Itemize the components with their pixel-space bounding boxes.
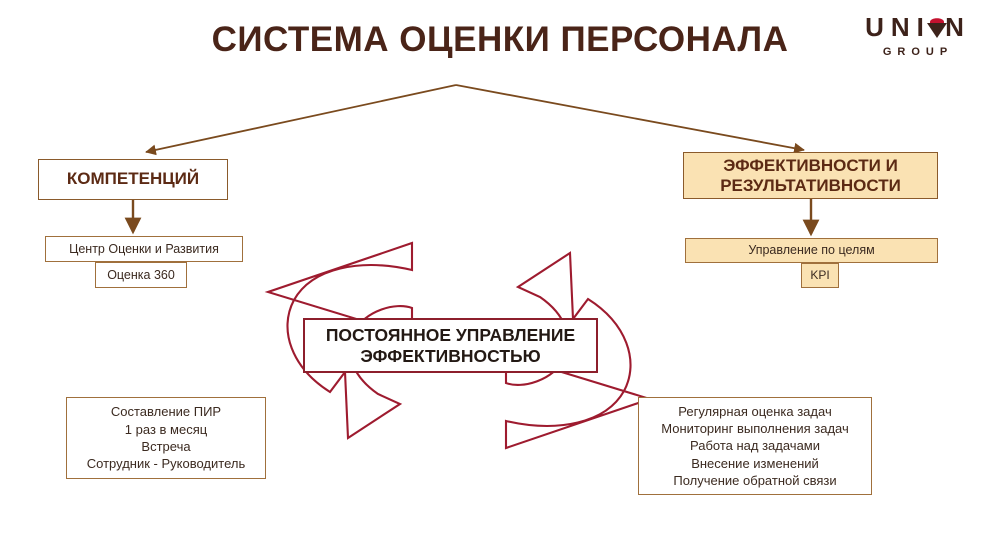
branch-split-arrows-icon (146, 85, 804, 152)
logo-wordmark: UNI N (848, 12, 988, 42)
box-continuous-performance-management[interactable]: ПОСТОЯННОЕ УПРАВЛЕНИЕ ЭФФЕКТИВНОСТЬЮ (303, 318, 598, 373)
task-line-5: Получение обратной связи (673, 472, 836, 489)
box-effectiveness-line2: РЕЗУЛЬТАТИВНОСТИ (720, 176, 901, 195)
box-assessment-center-label: Центр Оценки и Развития (69, 242, 219, 257)
box-assessment-center[interactable]: Центр Оценки и Развития (45, 236, 243, 262)
box-kpi[interactable]: KPI (801, 263, 839, 288)
box-task-details[interactable]: Регулярная оценка задач Мониторинг выпол… (638, 397, 872, 495)
task-line-2: Мониторинг выполнения задач (661, 420, 849, 437)
box-competency[interactable]: КОМПЕТЕНЦИЙ (38, 159, 228, 200)
box-cycle-line1: ПОСТОЯННОЕ УПРАВЛЕНИЕ (326, 325, 575, 346)
diamond-gem-icon (924, 13, 950, 41)
box-kpi-label: KPI (810, 268, 829, 282)
pdp-line-1: Составление ПИР (111, 403, 221, 420)
logo-subtitle: GROUP (848, 44, 988, 60)
task-line-1: Регулярная оценка задач (678, 403, 831, 420)
page-title: СИСТЕМА ОЦЕНКИ ПЕРСОНАЛА (150, 14, 850, 66)
box-mbo-label: Управление по целям (748, 243, 874, 258)
box-effectiveness-line1: ЭФФЕКТИВНОСТИ И (723, 156, 898, 175)
pdp-line-2: 1 раз в месяц (125, 421, 207, 438)
box-management-by-objectives[interactable]: Управление по целям (685, 238, 938, 263)
box-evaluation-360[interactable]: Оценка 360 (95, 262, 187, 288)
box-competency-label: КОМПЕТЕНЦИЙ (67, 169, 199, 189)
pdp-line-3: Встреча (141, 438, 190, 455)
box-effectiveness[interactable]: ЭФФЕКТИВНОСТИ И РЕЗУЛЬТАТИВНОСТИ (683, 152, 938, 199)
diagram-canvas: СИСТЕМА ОЦЕНКИ ПЕРСОНАЛА UNI N GROUP КОМ… (0, 0, 1000, 560)
box-evaluation-360-label: Оценка 360 (107, 268, 175, 283)
box-cycle-line2: ЭФФЕКТИВНОСТЬЮ (360, 346, 540, 367)
box-pdp-details[interactable]: Составление ПИР 1 раз в месяц Встреча Со… (66, 397, 266, 479)
logo: UNI N GROUP (848, 12, 988, 66)
task-line-4: Внесение изменений (691, 455, 819, 472)
task-line-3: Работа над задачами (690, 437, 820, 454)
pdp-line-4: Сотрудник - Руководитель (87, 455, 245, 472)
